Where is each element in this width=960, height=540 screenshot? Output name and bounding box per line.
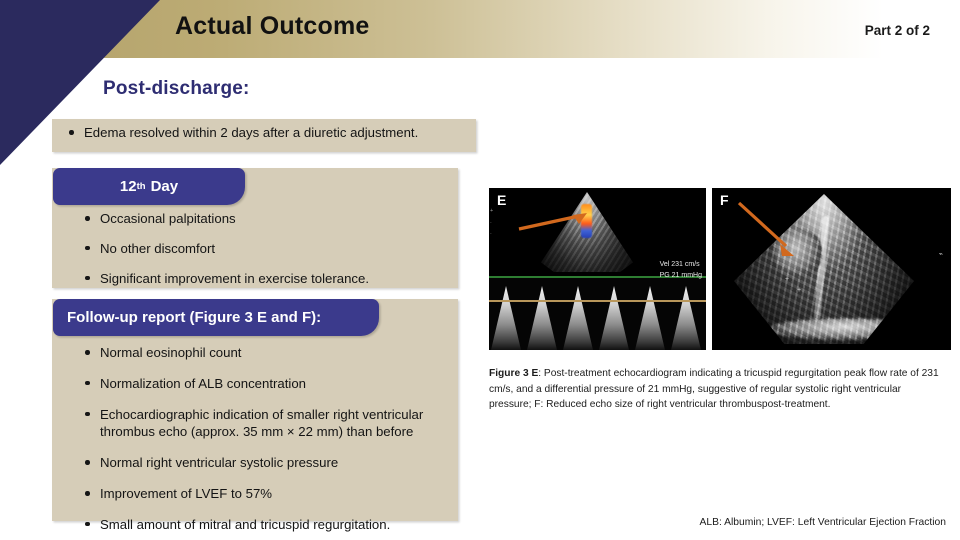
zero-line	[489, 300, 706, 302]
abbreviation-footnote: ALB: Albumin; LVEF: Left Ventricular Eje…	[700, 517, 946, 528]
caption-prefix: Figure 3 E	[489, 368, 538, 379]
doppler-envelope	[671, 286, 701, 350]
caption-body: : Post-treatment echocardiogram indicati…	[489, 368, 939, 410]
figure-group: E +·· Vel 231 cm/s	[489, 188, 951, 350]
list-item: Normal right ventricular systolic pressu…	[78, 454, 450, 472]
day-tab-suffix: th	[137, 181, 146, 192]
day-tab-header: 12thDay	[53, 168, 245, 205]
day-tab-word: Day	[151, 178, 179, 195]
followup-tab-label: Follow-up report (Figure 3 E and F):	[67, 309, 321, 326]
day-bullet-list: Occasional palpitations No other discomf…	[78, 210, 448, 299]
caliper-marker: ⌁	[939, 250, 943, 258]
list-item: Normalization of ALB concentration	[78, 375, 450, 393]
part-indicator: Part 2 of 2	[865, 23, 930, 38]
spectral-doppler-trace	[489, 278, 706, 350]
followup-bullet-list: Normal eosinophil count Normalization of…	[78, 344, 450, 540]
echo-panel-e: E +·· Vel 231 cm/s	[489, 188, 706, 350]
panel-f-label: F	[720, 192, 729, 208]
section-heading: Post-discharge:	[103, 78, 250, 100]
page-title: Actual Outcome	[175, 12, 595, 41]
echo-panel-f: F + + ⌁	[712, 188, 951, 350]
followup-tab-header: Follow-up report (Figure 3 E and F):	[53, 299, 379, 336]
list-item: Improvement of LVEF to 57%	[78, 485, 450, 503]
doppler-envelope	[563, 286, 593, 350]
doppler-envelope	[527, 286, 557, 350]
caliper-marker: +	[785, 276, 789, 283]
panel-e-label: E	[497, 192, 506, 208]
depth-scale-marks: +··	[490, 206, 493, 241]
caliper-marker: +	[797, 287, 801, 294]
apex-wall	[768, 318, 922, 340]
list-item: Occasional palpitations	[78, 210, 448, 228]
pointer-arrow-icon	[736, 200, 806, 262]
list-item: No other discomfort	[78, 240, 448, 258]
doppler-envelope	[599, 286, 629, 350]
doppler-envelope	[491, 286, 521, 350]
slide-root: Actual Outcome Part 2 of 2 Post-discharg…	[0, 0, 960, 540]
figure-caption: Figure 3 E: Post-treatment echocardiogra…	[489, 366, 944, 413]
pointer-arrow-icon	[517, 212, 589, 232]
gradient-value: PG 21 mmHg	[660, 271, 702, 282]
list-item: Normal eosinophil count	[78, 344, 450, 362]
edema-list: Edema resolved within 2 days after a diu…	[62, 124, 462, 142]
panel-e-measurement-overlay: Vel 231 cm/s PG 21 mmHg	[660, 260, 702, 281]
velocity-value: Vel 231 cm/s	[660, 260, 702, 271]
list-item: Small amount of mitral and tricuspid reg…	[78, 516, 450, 534]
list-item: Significant improvement in exercise tole…	[78, 270, 448, 288]
doppler-envelope	[635, 286, 665, 350]
list-item: Edema resolved within 2 days after a diu…	[62, 124, 462, 142]
day-tab-number: 12	[120, 178, 137, 195]
list-item: Echocardiographic indication of smaller …	[78, 406, 450, 442]
interventricular-septum	[813, 216, 829, 320]
